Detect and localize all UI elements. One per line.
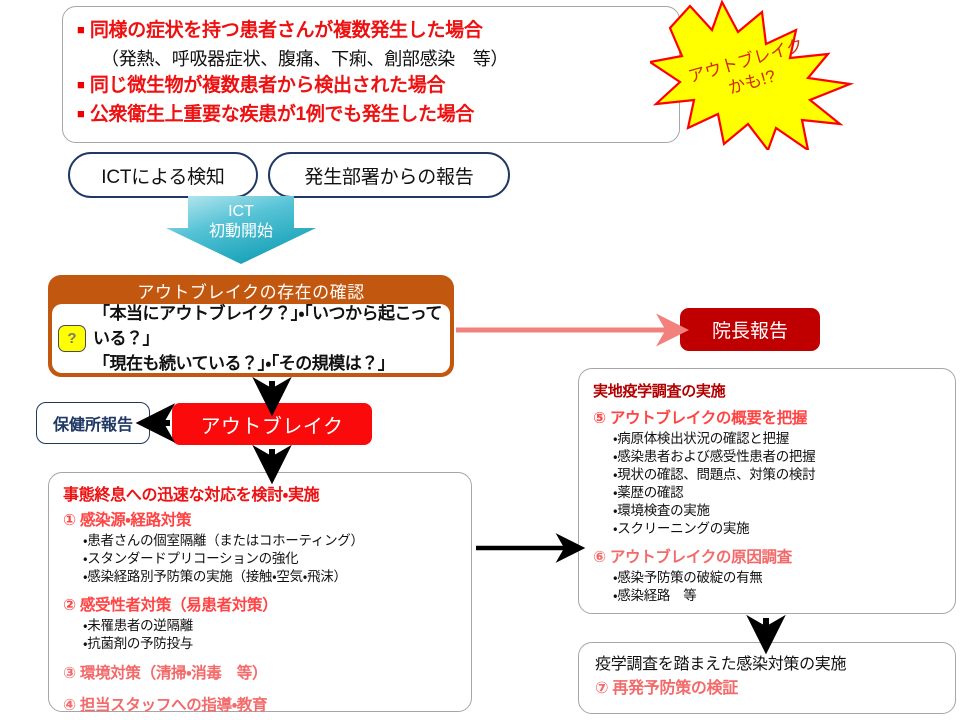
down-arrow-icon [166,196,316,264]
field-card-title: 実地疫学調査の実施 [593,381,941,402]
response-section-head: ③ 環境対策（清掃・消毒 等） [63,663,457,685]
followup-measures-card: 疫学調査を踏まえた感染対策の実施 ⑦ 再発予防策の検証 [578,642,956,714]
health-center-report-box[interactable]: 保健所報告 [36,402,150,444]
ict-initial-action-arrow: ICT 初動開始 [166,196,316,264]
outbreak-label: アウトブレイク [200,410,343,439]
square-bullet-icon: ■ [77,72,85,98]
criteria-sub-text: （発熱、呼吸器症状、腹痛、下痢、創部感染 等） [101,46,665,72]
field-section-head: ⑥ アウトブレイクの原因調査 [593,547,941,569]
criteria-item: ■ 公衆衛生上重要な疾患が1例でも発生した場合 [77,101,665,128]
followup-card-title: 疫学調査を踏まえた感染対策の実施 [595,653,939,677]
criteria-item: ■ 同様の症状を持つ患者さんが複数発生した場合 [77,17,665,44]
field-bullet: ・現状の確認、問題点、対策の検討 [613,466,941,484]
confirmation-header: アウトブレイクの存在の確認 [51,278,451,303]
response-section-head: ④ 担当スタッフへの指導・教育 [63,695,457,717]
response-bullet: ・抗菌剤の予防投与 [83,635,457,653]
criteria-main-text: 同様の症状を持つ患者さんが複数発生した場合 [90,17,483,44]
pill-department-label: 発生部署からの報告 [304,162,473,189]
field-bullet: ・感染患者および感受性患者の把握 [613,448,941,466]
confirmation-body: ? 「本当にアウトブレイク？」・「いつから起こっている？」 「現在も続いている？… [52,304,450,373]
field-bullet: ・感染予防策の破綻の有無 [613,569,941,587]
followup-section-head: ⑦ 再発予防策の検証 [595,678,939,700]
field-bullet: ・環境検査の実施 [613,502,941,520]
outbreak-box[interactable]: アウトブレイク [172,403,372,445]
criteria-panel: ■ 同様の症状を持つ患者さんが複数発生した場合 （発熱、呼吸器症状、腹痛、下痢、… [62,6,680,143]
field-bullet: ・病原体検出状況の確認と把握 [613,430,941,448]
response-measures-card: 事態終息への迅速な対応を検討・実施 ① 感染源・経路対策 ・患者さんの個室隔離（… [48,472,472,712]
field-section-head: ⑤ アウトブレイクの概要を把握 [593,408,941,430]
outbreak-starburst: アウトブレイク かも!? [650,0,865,150]
square-bullet-icon: ■ [77,17,85,43]
question-mark-icon: ? [58,325,86,352]
response-bullet: ・未罹患者の逆隔離 [83,617,457,635]
field-bullet: ・薬歴の確認 [613,484,941,502]
outbreak-confirmation-card: アウトブレイクの存在の確認 ? 「本当にアウトブレイク？」・「いつから起こってい… [48,275,454,377]
health-center-report-label: 保健所報告 [53,411,133,435]
confirmation-line-1: 「本当にアウトブレイク？」・「いつから起こっている？」 [93,301,444,351]
response-section-head: ① 感染源・経路対策 [63,510,457,532]
response-bullet: ・スタンダードプリコーションの強化 [83,550,457,568]
director-report-label: 院長報告 [712,316,788,343]
criteria-main-text: 同じ微生物が複数患者から検出された場合 [90,72,445,99]
starburst-icon [650,0,865,150]
pill-ict-detection[interactable]: ICTによる検知 [68,152,258,198]
director-report-box[interactable]: 院長報告 [680,308,820,351]
pill-ict-label: ICTによる検知 [101,162,224,189]
criteria-main-text: 公衆衛生上重要な疾患が1例でも発生した場合 [90,101,474,128]
field-bullet: ・感染経路 等 [613,587,941,605]
response-section-head: ② 感受性者対策（易患者対策） [63,595,457,617]
response-bullet: ・感染経路別予防策の実施（接触・空気・飛沫） [83,568,457,586]
response-card-title: 事態終息への迅速な対応を検討・実施 [63,485,457,507]
criteria-item: ■ 同じ微生物が複数患者から検出された場合 [77,72,665,99]
square-bullet-icon: ■ [77,101,85,127]
confirmation-line-2: 「現在も続いている？」・「その規模は？」 [93,351,444,376]
confirmation-questions: 「本当にアウトブレイク？」・「いつから起こっている？」 「現在も続いている？」・… [93,301,444,376]
response-bullet: ・患者さんの個室隔離（またはコホーティング） [83,532,457,550]
pill-department-report[interactable]: 発生部署からの報告 [268,152,510,198]
field-bullet: ・スクリーニングの実施 [613,520,941,538]
flowchart-canvas: ■ 同様の症状を持つ患者さんが複数発生した場合 （発熱、呼吸器症状、腹痛、下痢、… [0,0,960,720]
field-epidemiology-card: 実地疫学調査の実施 ⑤ アウトブレイクの概要を把握 ・病原体検出状況の確認と把握… [578,368,956,614]
